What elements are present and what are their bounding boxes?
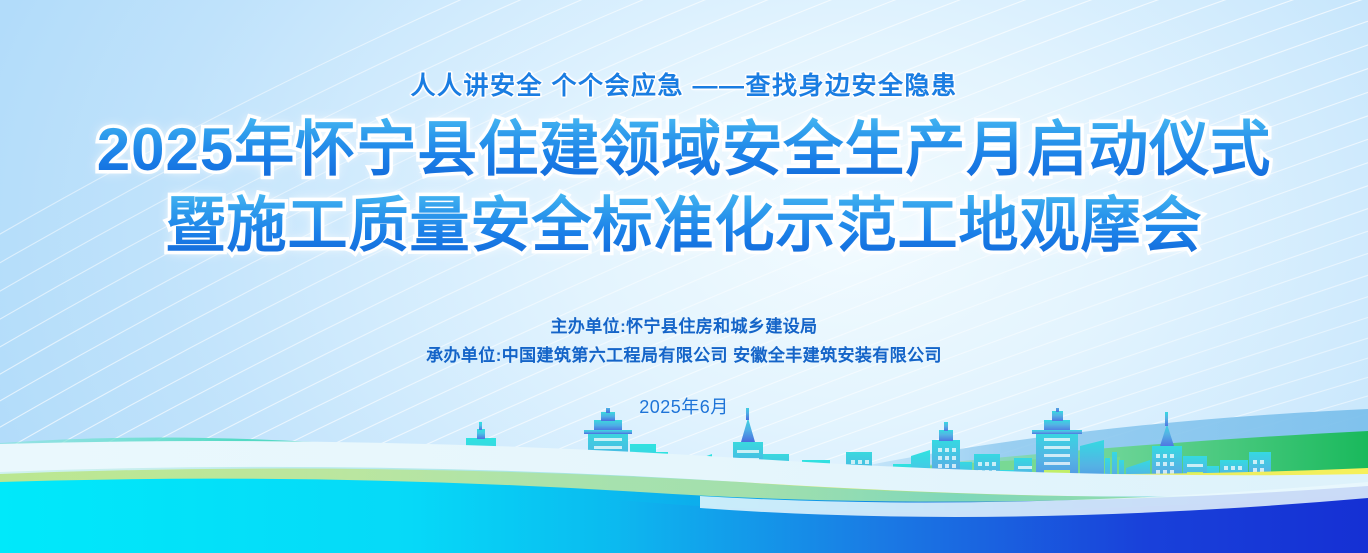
banner-title: 2025年怀宁县住建领域安全生产月启动仪式 2025年怀宁县住建领域安全生产月启… bbox=[0, 112, 1368, 264]
banner-text-layer: 人人讲安全 个个会应急 ——查找身边安全隐患 2025年怀宁县住建领域安全生产月… bbox=[0, 0, 1368, 553]
co-organizer-line: 承办单位:中国建筑第六工程局有限公司 安徽全丰建筑安装有限公司 bbox=[0, 341, 1368, 370]
title-line-2: 暨施工质量安全标准化示范工地观摩会 暨施工质量安全标准化示范工地观摩会 bbox=[0, 188, 1368, 264]
title-line-1-fill: 2025年怀宁县住建领域安全生产月启动仪式 bbox=[97, 116, 1271, 183]
event-date: 2025年6月 bbox=[0, 393, 1368, 419]
event-banner: 人人讲安全 个个会应急 ——查找身边安全隐患 2025年怀宁县住建领域安全生产月… bbox=[0, 0, 1368, 553]
title-line-2-fill: 暨施工质量安全标准化示范工地观摩会 bbox=[166, 192, 1203, 259]
title-line-1: 2025年怀宁县住建领域安全生产月启动仪式 2025年怀宁县住建领域安全生产月启… bbox=[0, 112, 1368, 188]
banner-tagline: 人人讲安全 个个会应急 ——查找身边安全隐患 bbox=[0, 66, 1368, 102]
organizer-block: 主办单位:怀宁县住房和城乡建设局 承办单位:中国建筑第六工程局有限公司 安徽全丰… bbox=[0, 312, 1368, 370]
organizer-line: 主办单位:怀宁县住房和城乡建设局 bbox=[0, 312, 1368, 341]
